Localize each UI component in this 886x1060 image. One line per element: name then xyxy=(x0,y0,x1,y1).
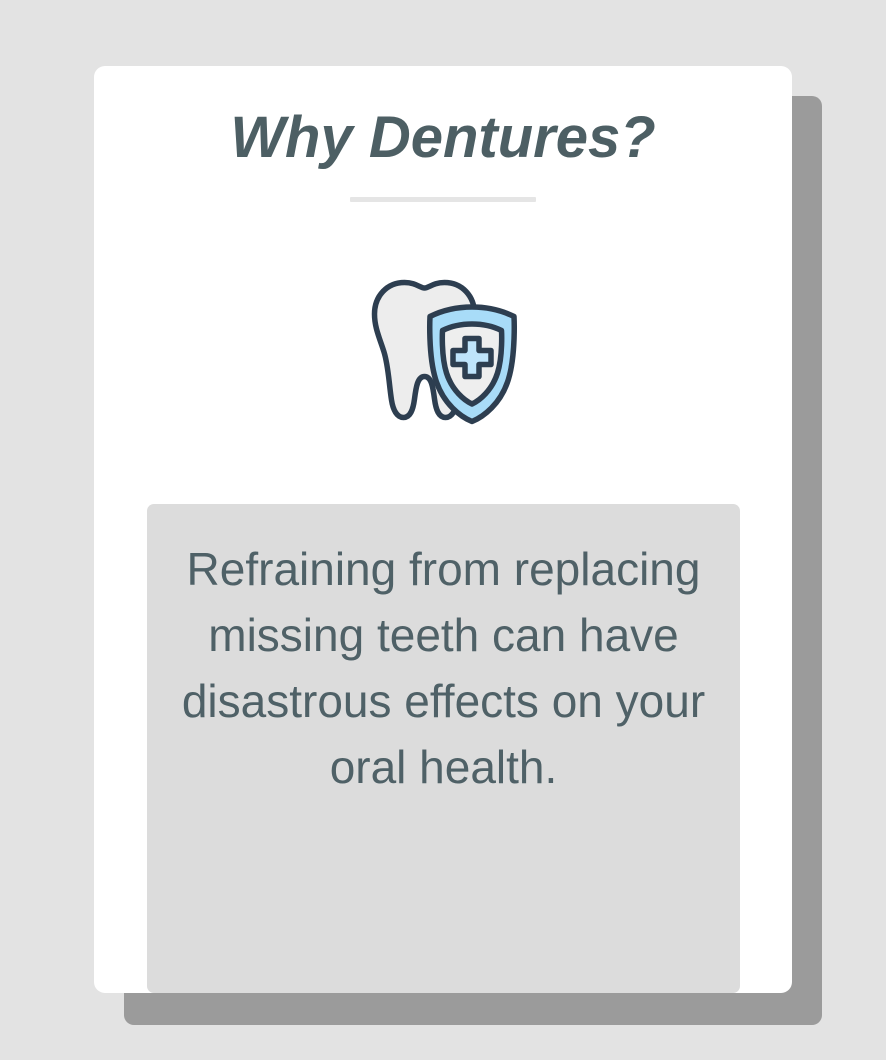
quote-panel: Refraining from replacing missing teeth … xyxy=(147,504,740,993)
page-title: Why Dentures? xyxy=(94,102,792,174)
quote-text: Refraining from replacing missing teeth … xyxy=(181,536,706,800)
title-divider xyxy=(350,197,536,202)
content-card: Why Dentures? Refraining from replacing … xyxy=(94,66,792,993)
tooth-shield-icon xyxy=(94,271,792,431)
slide-canvas: Why Dentures? Refraining from replacing … xyxy=(0,0,886,1060)
